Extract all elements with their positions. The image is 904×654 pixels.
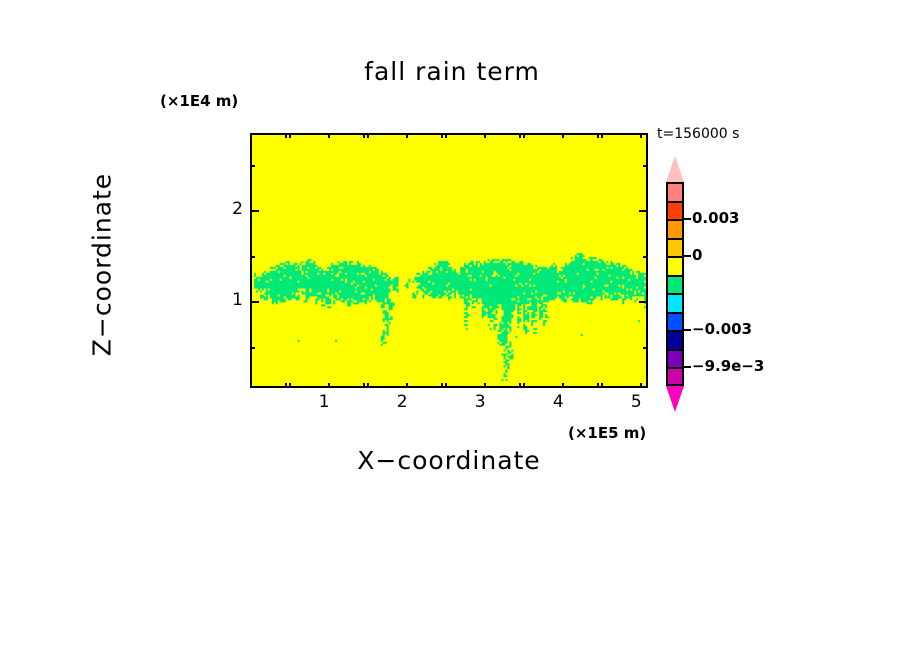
y-axis-title: Z−coordinate: [88, 155, 117, 375]
colorbar-label: −0.003: [692, 320, 752, 338]
y-axis-unit-label: (×1E4 m): [160, 92, 238, 110]
colorbar-band-magenta: [666, 367, 684, 386]
x-minor-tick-top: [406, 133, 408, 138]
x-minor-tick-top: [363, 133, 365, 138]
x-tick-label: 2: [387, 392, 417, 412]
colorbar-cap-bottom: [666, 386, 684, 412]
colorbar-tick: [684, 218, 691, 220]
chart-title: fall rain term: [0, 57, 904, 86]
y-tick-label: 1: [219, 290, 243, 310]
x-minor-tick-top: [289, 133, 291, 138]
y-minor-tick-right: [643, 256, 648, 258]
x-minor-tick-top: [597, 133, 599, 138]
y-tick-label: 2: [219, 199, 243, 219]
x-minor-tick-top: [562, 133, 564, 138]
x-minor-tick-top: [285, 133, 287, 138]
colorbar-label: 0.003: [692, 209, 739, 227]
x-minor-tick-top: [523, 133, 525, 138]
y-minor-tick: [250, 165, 255, 167]
y-major-tick: [250, 210, 259, 212]
x-tick-label: 4: [543, 392, 573, 412]
colorbar-tick: [684, 255, 691, 257]
x-minor-tick: [445, 383, 447, 388]
y-minor-tick: [250, 347, 255, 349]
x-minor-tick: [640, 383, 642, 388]
colorbar-cap-top: [666, 156, 684, 182]
x-minor-tick: [367, 383, 369, 388]
x-minor-tick: [601, 383, 603, 388]
x-tick-label: 1: [309, 392, 339, 412]
x-minor-tick-top: [250, 133, 252, 138]
x-tick-label: 5: [621, 392, 651, 412]
heatmap-canvas: [252, 135, 646, 386]
plot-area: [250, 133, 648, 388]
colorbar-tick: [684, 329, 691, 331]
x-minor-tick-top: [601, 133, 603, 138]
colorbar-band-blue: [666, 312, 684, 331]
colorbar-tick: [684, 366, 691, 368]
x-minor-tick-top: [441, 133, 443, 138]
colorbar-band-yellow: [666, 256, 684, 275]
x-minor-tick: [406, 383, 408, 388]
x-minor-tick: [285, 383, 287, 388]
x-minor-tick-top: [445, 133, 447, 138]
colorbar: [666, 182, 684, 386]
colorbar-label: 0: [692, 246, 702, 264]
x-minor-tick-top: [519, 133, 521, 138]
colorbar-band-orange-red: [666, 201, 684, 220]
x-axis-title: X−coordinate: [250, 446, 648, 475]
x-minor-tick: [562, 383, 564, 388]
x-tick-label: 3: [465, 392, 495, 412]
y-minor-tick-right: [643, 165, 648, 167]
x-minor-tick: [484, 383, 486, 388]
x-axis-unit-label: (×1E5 m): [568, 424, 646, 442]
colorbar-band-purple: [666, 349, 684, 368]
colorbar-band-cyan: [666, 293, 684, 312]
y-major-tick-right: [639, 301, 648, 303]
y-minor-tick: [250, 256, 255, 258]
x-minor-tick: [597, 383, 599, 388]
colorbar-band-amber: [666, 238, 684, 257]
colorbar-band-navy: [666, 330, 684, 349]
x-minor-tick: [441, 383, 443, 388]
y-minor-tick-right: [643, 347, 648, 349]
x-minor-tick-top: [640, 133, 642, 138]
timestamp-annotation: t=156000 s: [657, 126, 739, 142]
x-minor-tick: [523, 383, 525, 388]
colorbar-band-salmon: [666, 182, 684, 201]
x-minor-tick: [250, 383, 252, 388]
x-minor-tick: [363, 383, 365, 388]
colorbar-label: −9.9e−3: [692, 357, 764, 375]
x-minor-tick-top: [328, 133, 330, 138]
x-minor-tick-top: [484, 133, 486, 138]
x-minor-tick: [519, 383, 521, 388]
colorbar-band-spring-green: [666, 275, 684, 294]
colorbar-band-orange: [666, 219, 684, 238]
y-major-tick: [250, 301, 259, 303]
y-major-tick-right: [639, 210, 648, 212]
x-minor-tick-top: [367, 133, 369, 138]
x-minor-tick: [328, 383, 330, 388]
x-minor-tick: [289, 383, 291, 388]
